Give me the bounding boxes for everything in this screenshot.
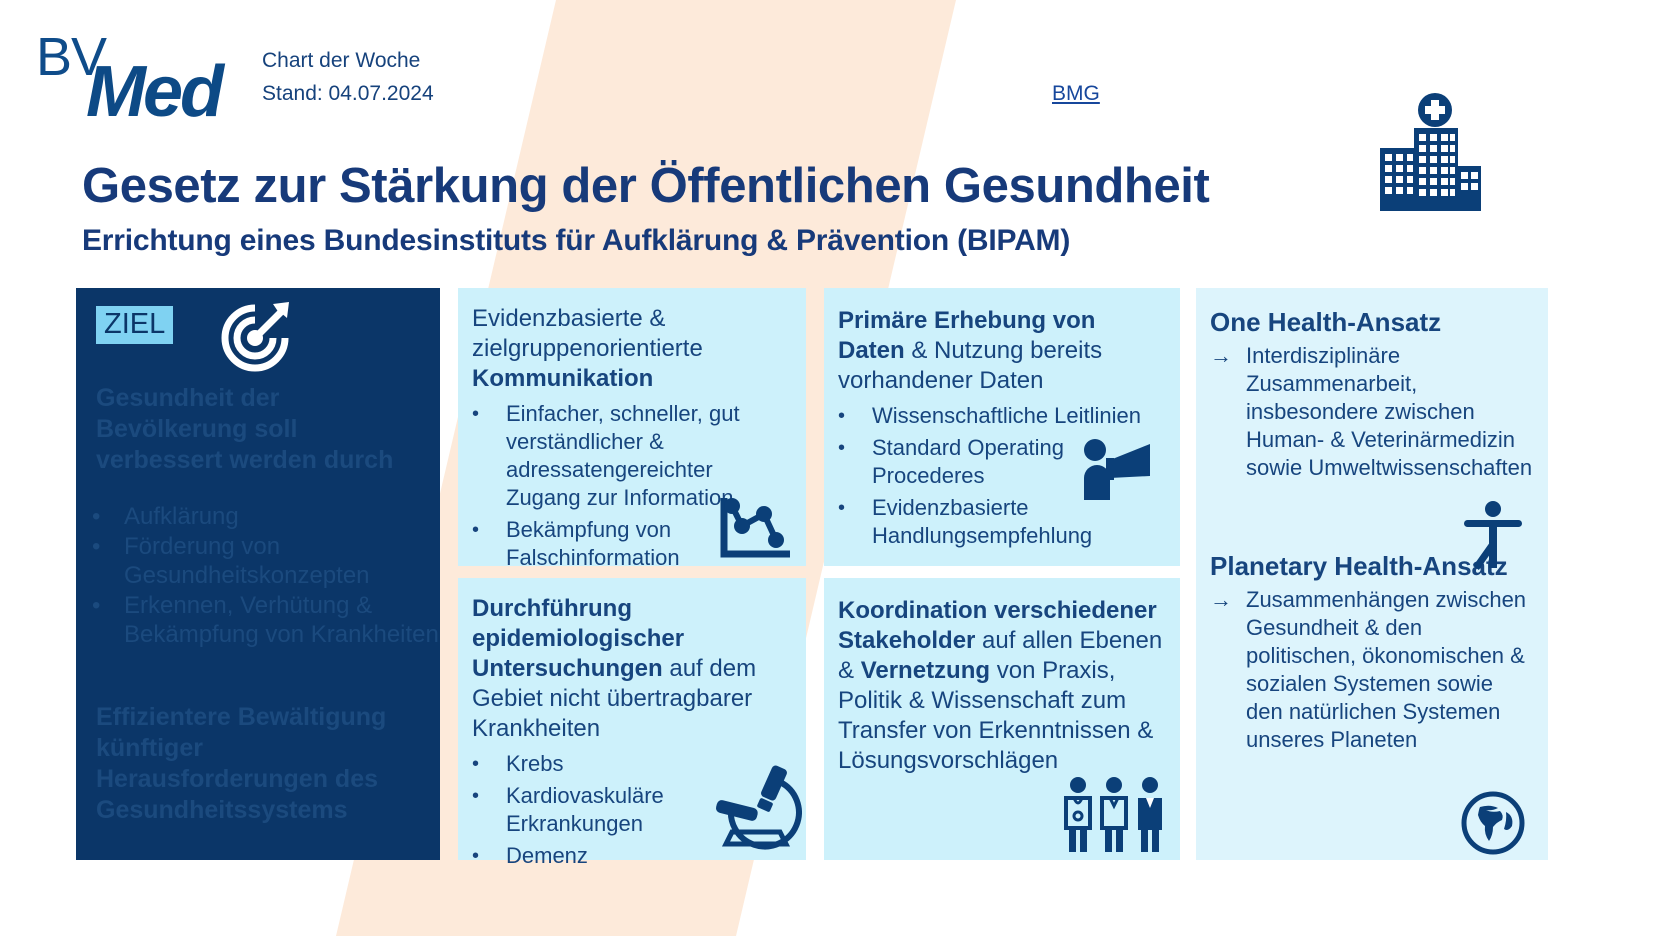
goal-footer-text: Effizientere Bewältigung künftiger Herau… — [96, 702, 436, 826]
list-item: • Erkennen, Verhütung & Bekämpfung von K… — [92, 591, 440, 649]
list-item-label: Erkennen, Verhütung & Bekämpfung von Kra… — [124, 591, 440, 649]
chart-der-woche-label: Chart der Woche — [262, 44, 434, 77]
list-item-label: Evidenzbasierte Handlungsempfehlung — [872, 494, 1166, 550]
card-data-title: Primäre Erhebung von Daten & Nutzung ber… — [838, 306, 1166, 396]
one-health-list: → Interdisziplinäre Zusammenarbeit, insb… — [1210, 342, 1534, 482]
bullet-glyph: • — [472, 842, 506, 870]
card-health-approaches: One Health-Ansatz → Interdisziplinäre Zu… — [1196, 288, 1548, 860]
page-subtitle: Errichtung eines Bundesinstituts für Auf… — [82, 222, 1070, 260]
list-item-label: Aufklärung — [124, 502, 239, 531]
list-item: • Evidenzbasierte Handlungsempfehlung — [838, 494, 1166, 550]
chart-meta: Chart der Woche Stand: 04.07.2024 — [262, 44, 434, 110]
list-item: → Zusammenhängen zwischen Gesundheit & d… — [1210, 586, 1534, 754]
bullet-glyph: • — [472, 782, 506, 838]
list-item: → Interdisziplinäre Zusammenarbeit, insb… — [1210, 342, 1534, 482]
bullet-glyph: • — [838, 434, 872, 490]
person-standing-icon — [1462, 500, 1524, 570]
list-item-label: Zusammenhängen zwischen Gesundheit & den… — [1246, 586, 1534, 754]
bullet-glyph: • — [92, 532, 124, 590]
card-data: Primäre Erhebung von Daten & Nutzung ber… — [824, 288, 1180, 566]
bullet-glyph: • — [838, 402, 872, 430]
arrow-right-icon: → — [1210, 586, 1246, 754]
bullet-glyph: • — [472, 750, 506, 778]
arrow-right-icon: → — [1210, 342, 1246, 482]
card-epidemiology-title: Durchführung epidemiologischer Untersuch… — [472, 594, 792, 744]
page-header: BV Med Chart der Woche Stand: 04.07.2024… — [0, 0, 1672, 285]
card-title-bold: Kommunikation — [472, 365, 653, 392]
stand-date-label: Stand: 04.07.2024 — [262, 77, 434, 110]
list-item-label: Wissenschaftliche Leitlinien — [872, 402, 1141, 430]
megaphone-icon — [1082, 438, 1154, 500]
line-chart-icon — [718, 492, 796, 562]
list-item-label: Interdisziplinäre Zusammenarbeit, insbes… — [1246, 342, 1534, 482]
card-title-bold-2: Vernetzung — [861, 657, 990, 684]
list-item: • Förderung von Gesundheitskonzepten — [92, 532, 440, 590]
card-coordination-title: Koordination verschiedener Stakeholder a… — [838, 596, 1166, 776]
list-item: • Aufklärung — [92, 502, 440, 531]
ziel-badge: ZIEL — [96, 306, 173, 344]
microscope-icon — [710, 764, 802, 854]
hospital-icon — [1374, 92, 1484, 217]
bullet-glyph: • — [472, 516, 506, 572]
bullet-glyph: • — [472, 400, 506, 512]
bullet-glyph: • — [92, 591, 124, 649]
logo-med-text: Med — [86, 56, 221, 128]
one-health-title: One Health-Ansatz — [1210, 306, 1534, 338]
card-title-plain: Evidenzbasierte & zielgruppenorientierte — [472, 305, 703, 362]
planetary-health-list: → Zusammenhängen zwischen Gesundheit & d… — [1210, 586, 1534, 754]
list-item-label: Krebs — [506, 750, 563, 778]
bvmed-logo: BV Med — [34, 30, 264, 122]
bmg-source-link[interactable]: BMG — [1052, 82, 1100, 106]
globe-icon — [1460, 790, 1526, 856]
bullet-glyph: • — [838, 494, 872, 550]
list-item: • Wissenschaftliche Leitlinien — [838, 402, 1166, 430]
people-group-icon — [1060, 776, 1170, 856]
bullet-glyph: • — [92, 502, 124, 531]
card-title-bold: Durchführung epidemiologischer Untersuch… — [472, 595, 684, 682]
target-icon — [217, 300, 293, 376]
page-title: Gesetz zur Stärkung der Öffentlichen Ges… — [82, 157, 1209, 215]
list-item-label: Demenz — [506, 842, 588, 870]
goal-heading: Gesundheit der Bevölkerung soll verbesse… — [96, 383, 426, 476]
card-communication-title: Evidenzbasierte & zielgruppenorientierte… — [472, 304, 792, 394]
goal-bullet-list: • Aufklärung • Förderung von Gesundheits… — [92, 502, 440, 650]
list-item-label: Förderung von Gesundheitskonzepten — [124, 532, 440, 590]
